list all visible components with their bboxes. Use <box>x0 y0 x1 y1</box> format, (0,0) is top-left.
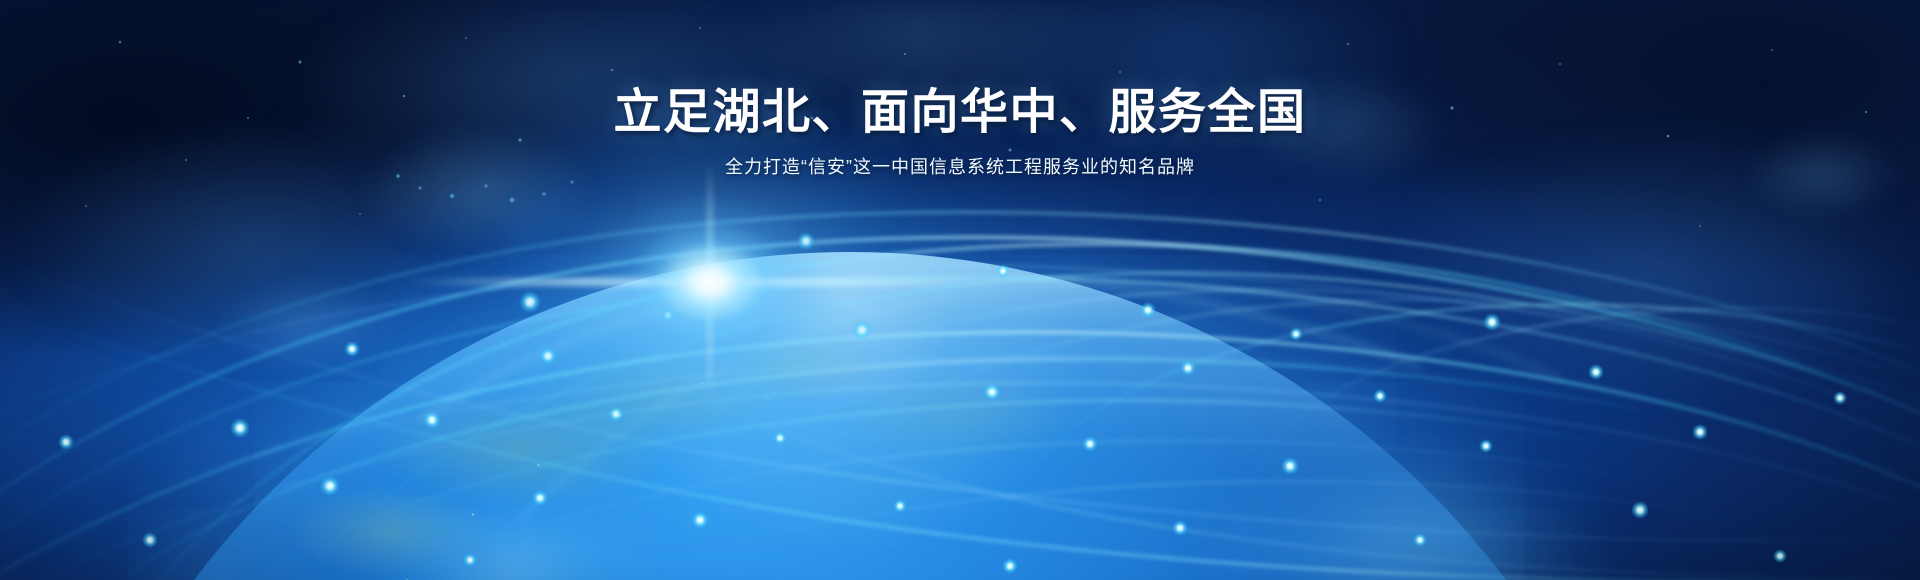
banner-copy: 立足湖北、面向华中、服务全国 全力打造“信安”这一中国信息系统工程服务业的知名品… <box>0 0 1920 181</box>
banner-headline: 立足湖北、面向华中、服务全国 <box>0 86 1920 140</box>
banner-subheadline: 全力打造“信安”这一中国信息系统工程服务业的知名品牌 <box>0 154 1920 181</box>
hero-banner: 立足湖北、面向华中、服务全国 全力打造“信安”这一中国信息系统工程服务业的知名品… <box>0 0 1920 580</box>
flare-core <box>590 192 830 372</box>
